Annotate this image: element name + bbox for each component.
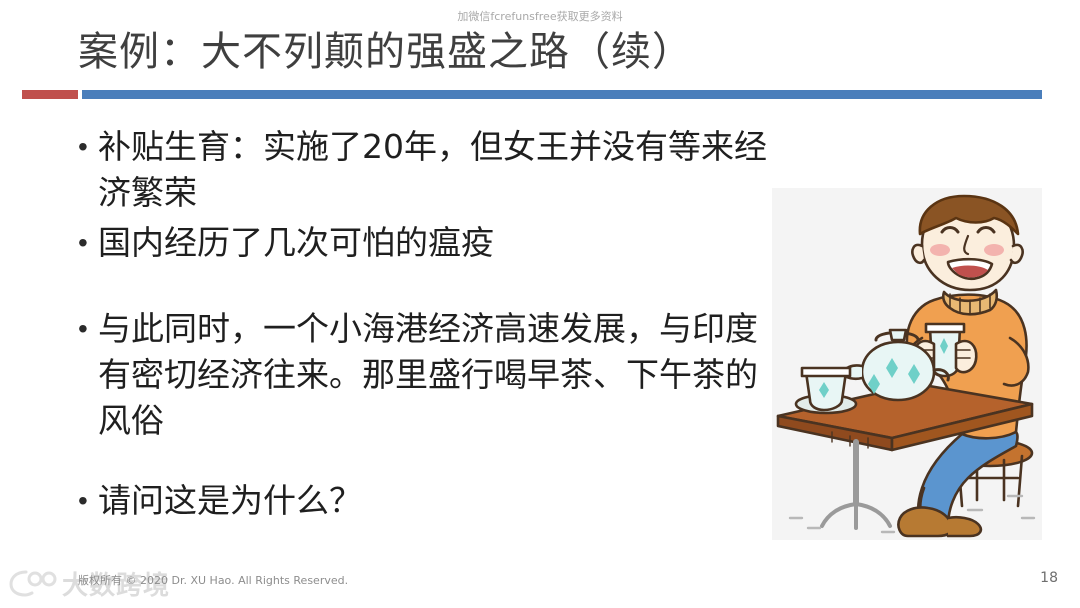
presentation-slide: 加微信fcrefunsfree获取更多资料 案例：大不列颠的强盛之路（续） • … [0,0,1080,608]
tea-drinking-illustration [772,188,1042,540]
page-number: 18 [1040,570,1058,586]
bullet-text: 国内经历了几次可怕的瘟疫 [98,220,768,266]
footer-divider [0,552,1080,553]
bullet-marker-icon: • [78,306,98,352]
list-item: • 补贴生育：实施了20年，但女王并没有等来经济繁荣 [78,124,768,216]
list-item: • 国内经历了几次可怕的瘟疫 [78,220,768,266]
list-item: • 与此同时，一个小海港经济高速发展，与印度有密切经济往来。那里盛行喝早茶、下午… [78,306,768,444]
bullet-list: • 补贴生育：实施了20年，但女王并没有等来经济繁荣 • 国内经历了几次可怕的瘟… [78,124,768,528]
man-drinking-tea-image [772,188,1042,540]
top-watermark-text: 加微信fcrefunsfree获取更多资料 [0,8,1080,24]
bullet-spacer [78,270,768,306]
bullet-text: 与此同时，一个小海港经济高速发展，与印度有密切经济往来。那里盛行喝早茶、下午茶的… [98,306,768,444]
bullet-marker-icon: • [78,478,98,524]
bullet-spacer [78,448,768,478]
bullet-text: 补贴生育：实施了20年，但女王并没有等来经济繁荣 [98,124,768,216]
list-item: • 请问这是为什么？ [78,478,768,524]
smiley-circle-logo-icon [8,568,58,598]
accent-bar-blue-segment [82,90,1042,99]
accent-bar-red-segment [22,90,78,99]
bullet-marker-icon: • [78,220,98,266]
footer-copyright: 版权所有 © 2020 Dr. XU Hao. All Rights Reser… [78,572,348,588]
page-title: 案例：大不列颠的强盛之路（续） [78,26,693,78]
bullet-text: 请问这是为什么？ [98,478,768,524]
title-accent-bar [22,90,1042,99]
bullet-marker-icon: • [78,124,98,170]
